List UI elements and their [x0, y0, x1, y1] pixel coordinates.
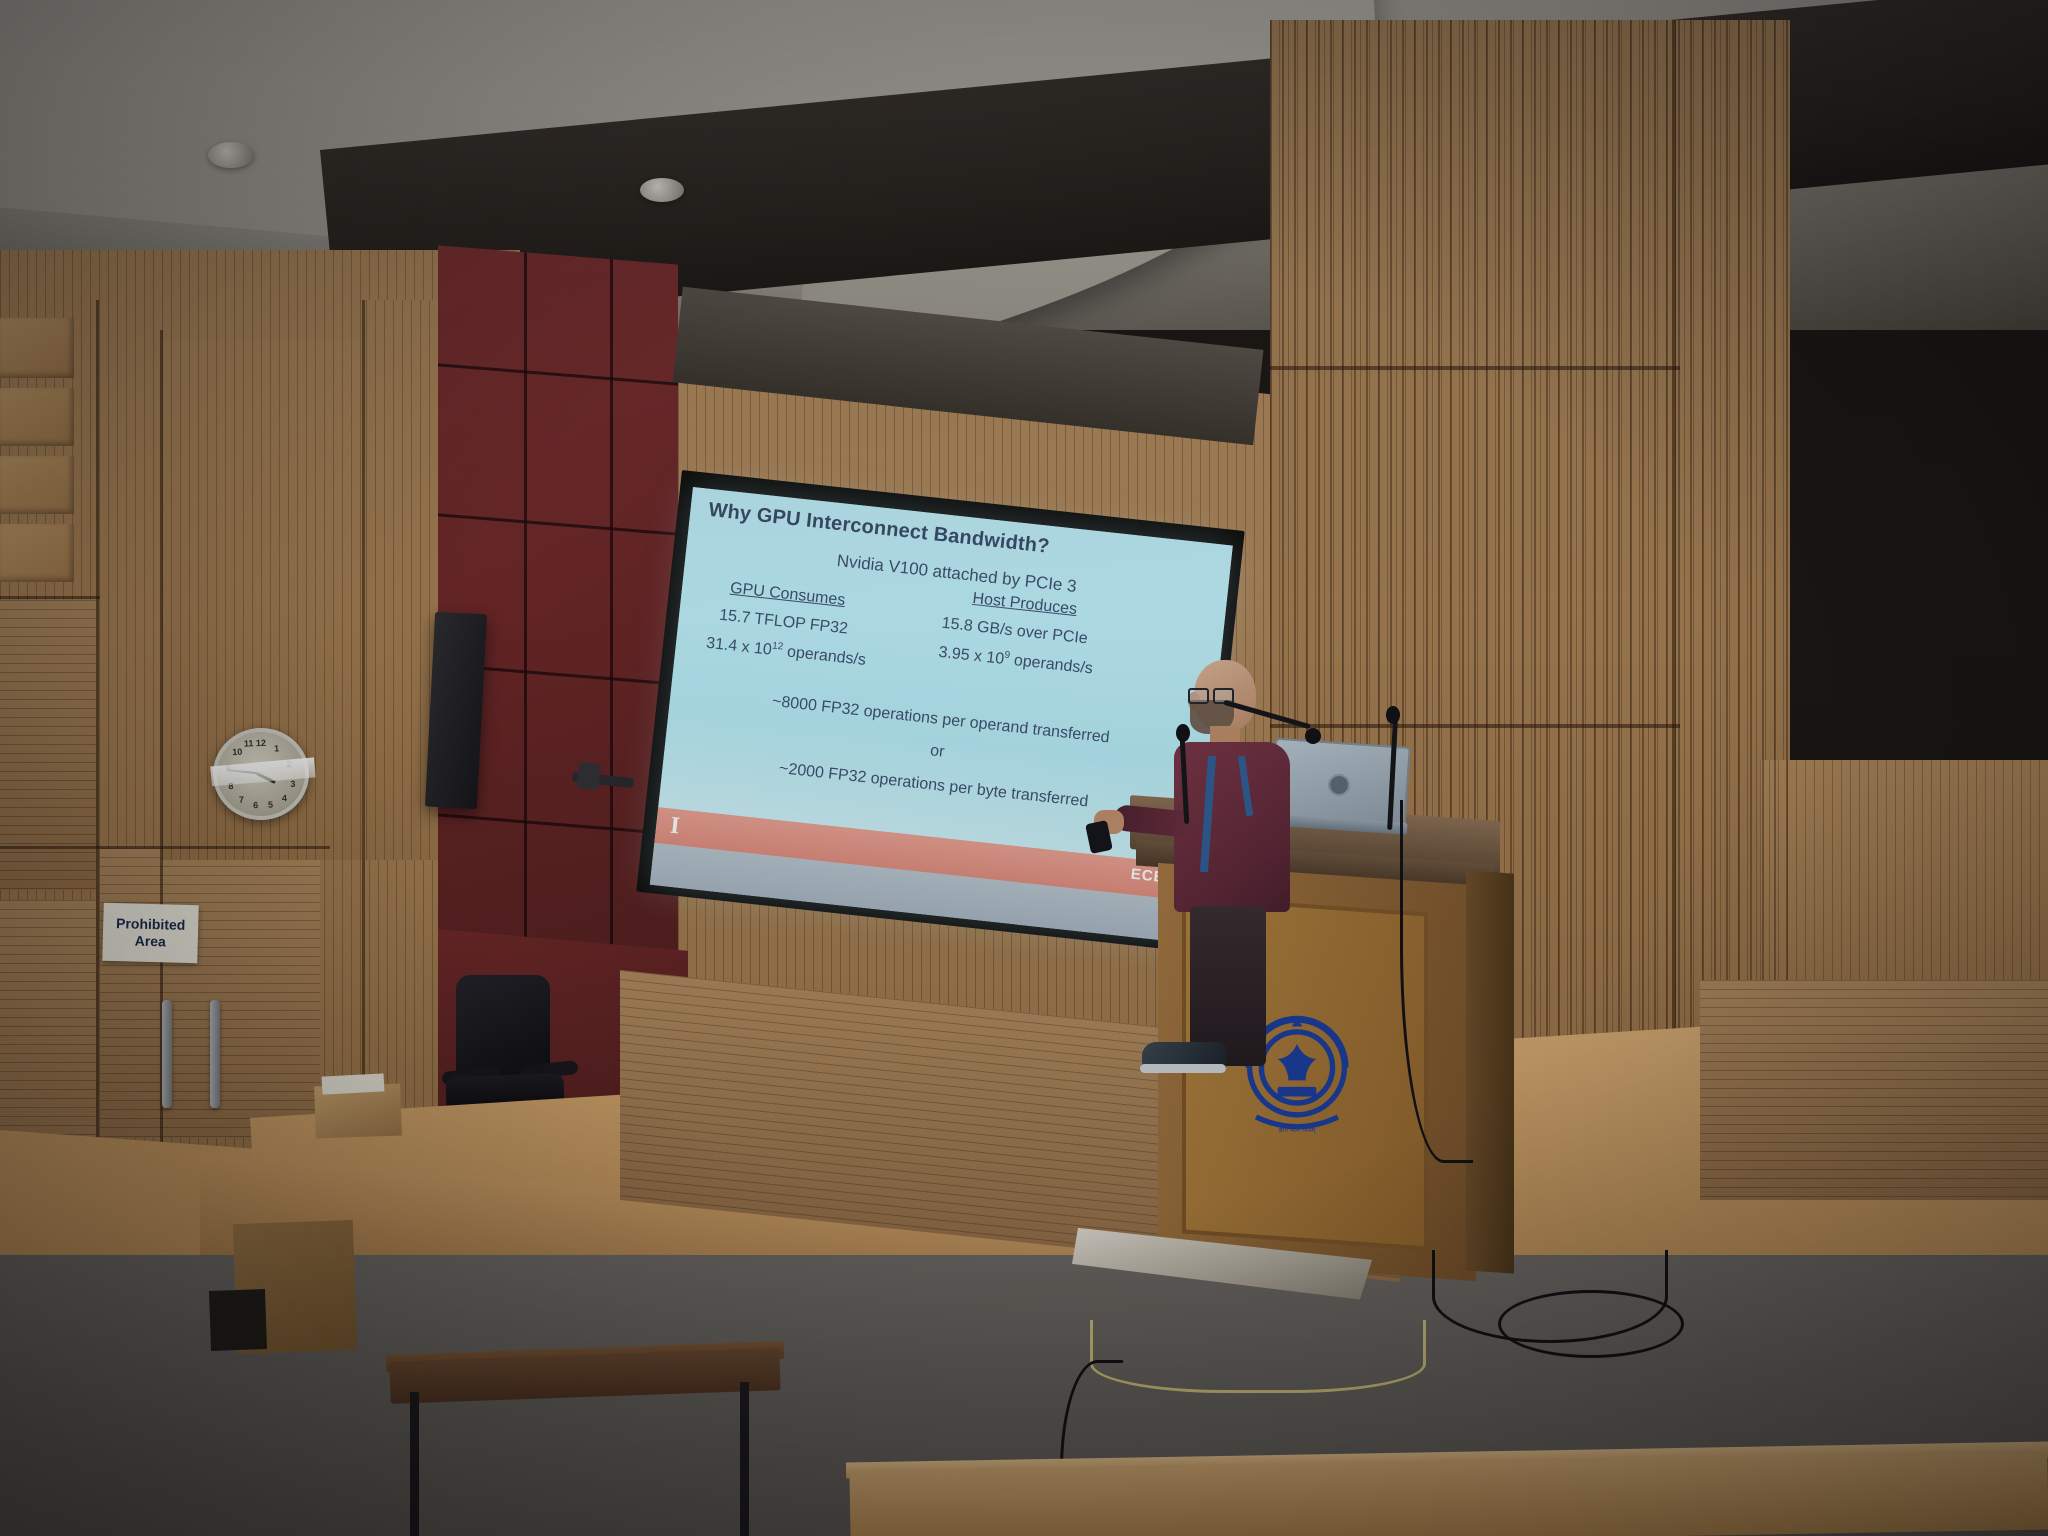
panel-divider [0, 596, 100, 599]
wall-speaker [425, 612, 487, 809]
clock-numeral: 12 [256, 738, 266, 748]
wall-panel-block [0, 318, 74, 378]
presenter [1160, 660, 1340, 1080]
stage-wall-base-right [1700, 980, 2048, 1200]
slide-host-line-2: 3.95 x 109 operands/s [938, 643, 1094, 679]
clock-numeral: 4 [282, 793, 287, 803]
clock-numeral: 11 [244, 738, 254, 748]
slide-column-heading-gpu: GPU Consumes [729, 580, 846, 610]
clock-numeral: 1 [274, 743, 279, 753]
podium-side-face [1466, 870, 1514, 1273]
dark-box [209, 1289, 267, 1351]
clock-numeral: 6 [253, 800, 258, 810]
slide-host-line-1: 15.8 GB/s over PCIe [941, 615, 1089, 649]
slide-gpu-line-2-base: 31.4 x 10 [705, 635, 772, 659]
wall-panel-block [0, 456, 74, 514]
clock-numeral: 3 [290, 779, 295, 789]
illinois-logo-icon: I [669, 813, 681, 840]
panel-divider [362, 300, 365, 1160]
sign-line-2: Area [134, 933, 166, 951]
clock-numeral: 5 [268, 800, 273, 810]
speaker-mount-bracket [577, 762, 602, 790]
ceiling-dome-light [640, 178, 684, 202]
prohibited-area-sign: Prohibited Area [102, 903, 198, 963]
microphone-capsule [1386, 706, 1400, 724]
presenter-shoe-sole [1140, 1064, 1226, 1073]
slide-gpu-line-1: 15.7 TFLOP FP32 [718, 607, 848, 639]
clock-glass-glare [210, 757, 315, 786]
cable-loop [1498, 1290, 1684, 1358]
cable [1090, 1320, 1426, 1393]
door-handle[interactable] [210, 1000, 220, 1108]
sign-line-1: Prohibited [116, 915, 186, 934]
table-leg [410, 1392, 419, 1536]
table-leg [740, 1382, 749, 1536]
ceiling-dome-light [208, 142, 254, 168]
lecture-hall-photo: 12 1 2 3 4 5 6 7 8 9 10 11 Prohibited Ar… [0, 0, 2048, 1536]
door-handle[interactable] [162, 1000, 172, 1108]
glasses-icon [1188, 688, 1234, 700]
panel-divider [0, 846, 330, 849]
microphone-capsule [1305, 728, 1321, 744]
wall-panel-block [0, 524, 74, 582]
slide-gpu-line-2-tail: operands/s [782, 643, 867, 669]
panel-divider [1672, 20, 1676, 1060]
slide-gpu-line-2: 31.4 x 1012 operands/s [705, 633, 867, 670]
panel-divider [96, 300, 99, 1230]
microphone-capsule [1176, 724, 1190, 742]
clock-numeral: 10 [232, 747, 242, 757]
svg-text:ज्ञानं परमं ध्येयम्: ज्ञानं परमं ध्येयम् [1279, 1126, 1317, 1134]
paper-on-ledge [322, 1073, 385, 1094]
panel-divider [1270, 366, 1680, 370]
slide-host-line-2-tail: operands/s [1009, 652, 1094, 678]
clock-numeral: 7 [239, 795, 244, 805]
wall-panel-block [0, 388, 74, 446]
slide-host-line-2-base: 3.95 x 10 [938, 644, 1005, 668]
